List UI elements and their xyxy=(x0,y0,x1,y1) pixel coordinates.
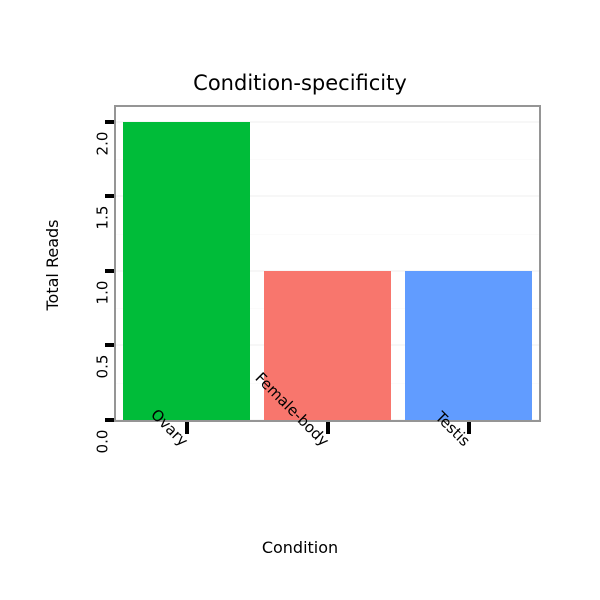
x-axis-title: Condition xyxy=(0,539,600,557)
chart-canvas: Condition-specificity 0.00.51.01.52.0 Ov… xyxy=(0,0,600,600)
chart-title: Condition-specificity xyxy=(0,70,600,96)
y-axis-tick-label: 0.0 xyxy=(96,420,111,464)
bar-ovary xyxy=(123,122,249,420)
y-axis-title: Total Reads xyxy=(45,220,61,311)
y-axis-tick-label: 2.0 xyxy=(96,121,111,165)
y-axis-tick-label: 1.0 xyxy=(96,270,111,314)
y-axis-tick-label: 1.5 xyxy=(96,196,111,240)
plot-panel xyxy=(114,105,541,422)
